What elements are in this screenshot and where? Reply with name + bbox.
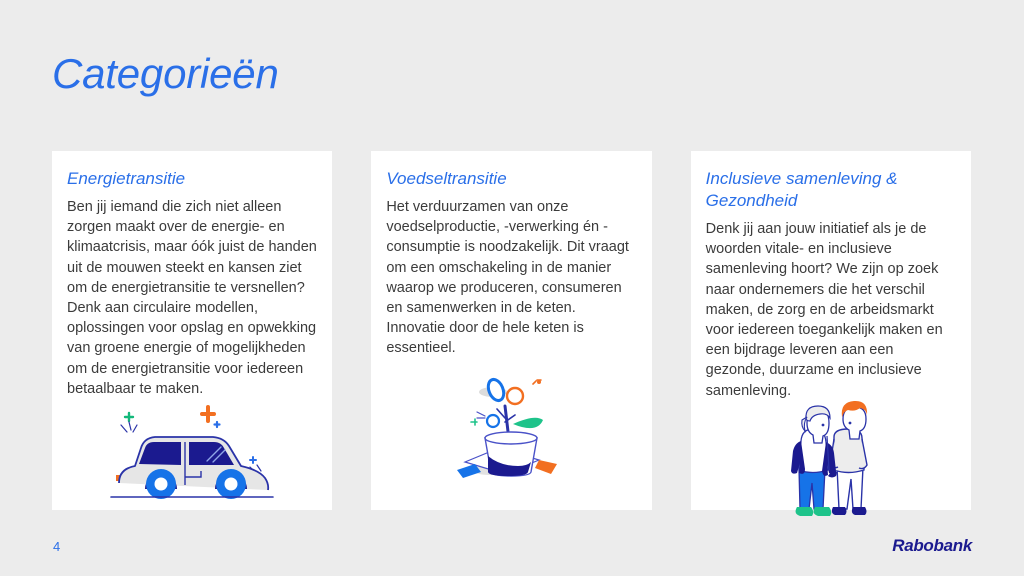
card-body-text: Het verduurzamen van onze voedselproduct… [386,197,636,359]
two-people-walking-icon [706,401,956,529]
potted-plant-icon [386,372,636,500]
category-card-energietransitie[interactable]: Energietransitie Ben jij iemand die zich… [52,151,332,510]
card-body-text: Denk jij aan jouw initiatief als je de w… [706,219,956,401]
card-title: Inclusieve samenleving & Gezondheid [706,168,956,212]
page-title: Categorieën [52,50,279,98]
presentation-slide: Categorieën Energietransitie Ben jij iem… [0,0,1024,576]
card-body-text: Ben jij iemand die zich niet alleen zorg… [67,197,317,399]
card-title: Voedseltransitie [386,168,636,190]
category-card-voedseltransitie[interactable]: Voedseltransitie Het verduurzamen van on… [371,151,651,510]
rabobank-logo: Rabobank [892,536,972,556]
category-card-list: Energietransitie Ben jij iemand die zich… [52,151,971,510]
page-number: 4 [53,539,60,554]
electric-car-icon [67,399,317,515]
card-title: Energietransitie [67,168,317,190]
category-card-inclusieve-samenleving[interactable]: Inclusieve samenleving & Gezondheid Denk… [691,151,971,510]
